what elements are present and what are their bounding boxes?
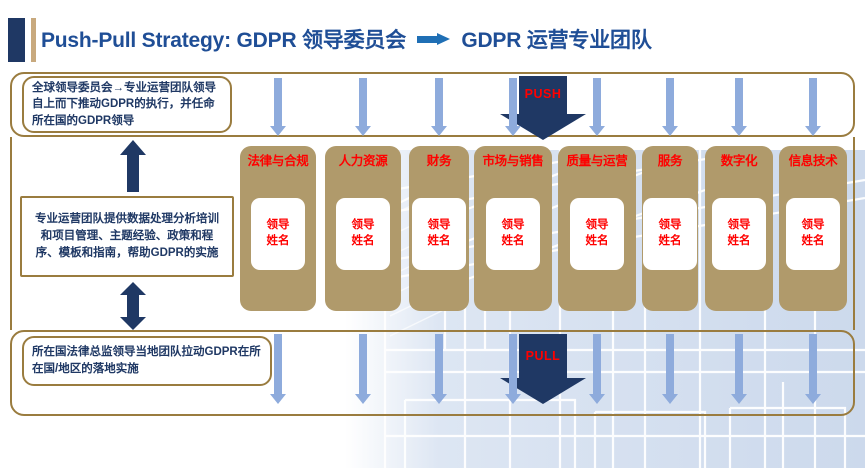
leader-card-line2: 姓名 (659, 234, 682, 250)
blue-down-arrow-icon (731, 334, 748, 404)
department-column[interactable]: 数字化领导姓名 (705, 146, 773, 311)
leader-name-card[interactable]: 领导姓名 (412, 198, 466, 270)
page-title: Push-Pull Strategy: GDPR 领导委员会 GDPR 运营专业… (41, 24, 652, 54)
note-box-top: 全球领导委员会→专业运营团队领导自上而下推动GDPR的执行，并任命所在国的GDP… (22, 76, 232, 133)
note-box-bottom-text: 所在国法律总监领导当地团队拉动GDPR在所在国/地区的落地实施 (32, 344, 262, 377)
title-accent-block (8, 18, 25, 62)
leader-card-line2: 姓名 (586, 234, 609, 250)
leader-name-card[interactable]: 领导姓名 (570, 198, 624, 270)
blue-down-arrow-icon (505, 334, 522, 404)
up-arrow-icon (120, 140, 146, 192)
leader-card-line1: 领导 (659, 218, 682, 234)
leader-card-line2: 姓名 (728, 234, 751, 250)
blue-down-arrow-icon (355, 334, 372, 404)
leader-card-line2: 姓名 (428, 234, 451, 250)
blue-down-arrow-icon (505, 78, 522, 136)
leader-card-line1: 领导 (802, 218, 825, 234)
leader-card-line2: 姓名 (267, 234, 290, 250)
department-column-title: 信息技术 (779, 150, 847, 169)
note-box-bottom: 所在国法律总监领导当地团队拉动GDPR在所在国/地区的落地实施 (22, 336, 272, 386)
leader-card-line1: 领导 (267, 218, 290, 234)
department-column-title: 法律与合规 (240, 150, 316, 169)
leader-name-card[interactable]: 领导姓名 (486, 198, 540, 270)
department-column-title: 市场与销售 (474, 150, 552, 169)
department-column-title: 人力资源 (325, 150, 401, 169)
leader-card-line1: 领导 (428, 218, 451, 234)
leader-card-line1: 领导 (352, 218, 375, 234)
right-arrow-icon (417, 33, 451, 46)
page-title-before: Push-Pull Strategy: GDPR 领导委员会 (41, 29, 406, 52)
department-column[interactable]: 市场与销售领导姓名 (474, 146, 552, 311)
department-column[interactable]: 信息技术领导姓名 (779, 146, 847, 311)
department-column-title: 财务 (409, 150, 469, 169)
note-box-middle: 专业运营团队提供数据处理分析培训和项目管理、主题经验、政策和程序、模板和指南，帮… (20, 196, 234, 277)
department-column-title: 数字化 (705, 150, 773, 169)
note-box-middle-text: 专业运营团队提供数据处理分析培训和项目管理、主题经验、政策和程序、模板和指南，帮… (30, 211, 224, 261)
blue-down-arrow-icon (431, 334, 448, 404)
up-down-arrow-icon (120, 282, 146, 330)
leader-name-card[interactable]: 领导姓名 (786, 198, 840, 270)
leader-name-card[interactable]: 领导姓名 (643, 198, 697, 270)
leader-name-card[interactable]: 领导姓名 (712, 198, 766, 270)
blue-down-arrow-icon (355, 78, 372, 136)
blue-down-arrow-icon (805, 78, 822, 136)
department-column[interactable]: 质量与运营领导姓名 (558, 146, 636, 311)
blue-down-arrow-icon (662, 78, 679, 136)
department-column[interactable]: 人力资源领导姓名 (325, 146, 401, 311)
blue-down-arrow-icon (431, 78, 448, 136)
department-column[interactable]: 财务领导姓名 (409, 146, 469, 311)
blue-down-arrow-icon (270, 334, 287, 404)
title-accent-line (31, 18, 36, 62)
leader-card-line1: 领导 (586, 218, 609, 234)
slide-canvas: Push-Pull Strategy: GDPR 领导委员会 GDPR 运营专业… (0, 0, 865, 468)
note-box-top-text: 全球领导委员会→专业运营团队领导自上而下推动GDPR的执行，并任命所在国的GDP… (32, 80, 222, 130)
department-column[interactable]: 法律与合规领导姓名 (240, 146, 316, 311)
leader-card-line1: 领导 (502, 218, 525, 234)
page-title-after: GDPR 运营专业团队 (461, 29, 651, 52)
leader-card-line1: 领导 (728, 218, 751, 234)
department-column-title: 质量与运营 (558, 150, 636, 169)
blue-down-arrow-icon (589, 78, 606, 136)
blue-down-arrow-icon (589, 334, 606, 404)
leader-card-line2: 姓名 (352, 234, 375, 250)
blue-down-arrow-icon (731, 78, 748, 136)
leader-card-line2: 姓名 (802, 234, 825, 250)
leader-name-card[interactable]: 领导姓名 (336, 198, 390, 270)
blue-down-arrow-icon (270, 78, 287, 136)
blue-down-arrow-icon (662, 334, 679, 404)
department-column-title: 服务 (642, 150, 698, 169)
leader-name-card[interactable]: 领导姓名 (251, 198, 305, 270)
blue-down-arrow-icon (805, 334, 822, 404)
department-column[interactable]: 服务领导姓名 (642, 146, 698, 311)
leader-card-line2: 姓名 (502, 234, 525, 250)
